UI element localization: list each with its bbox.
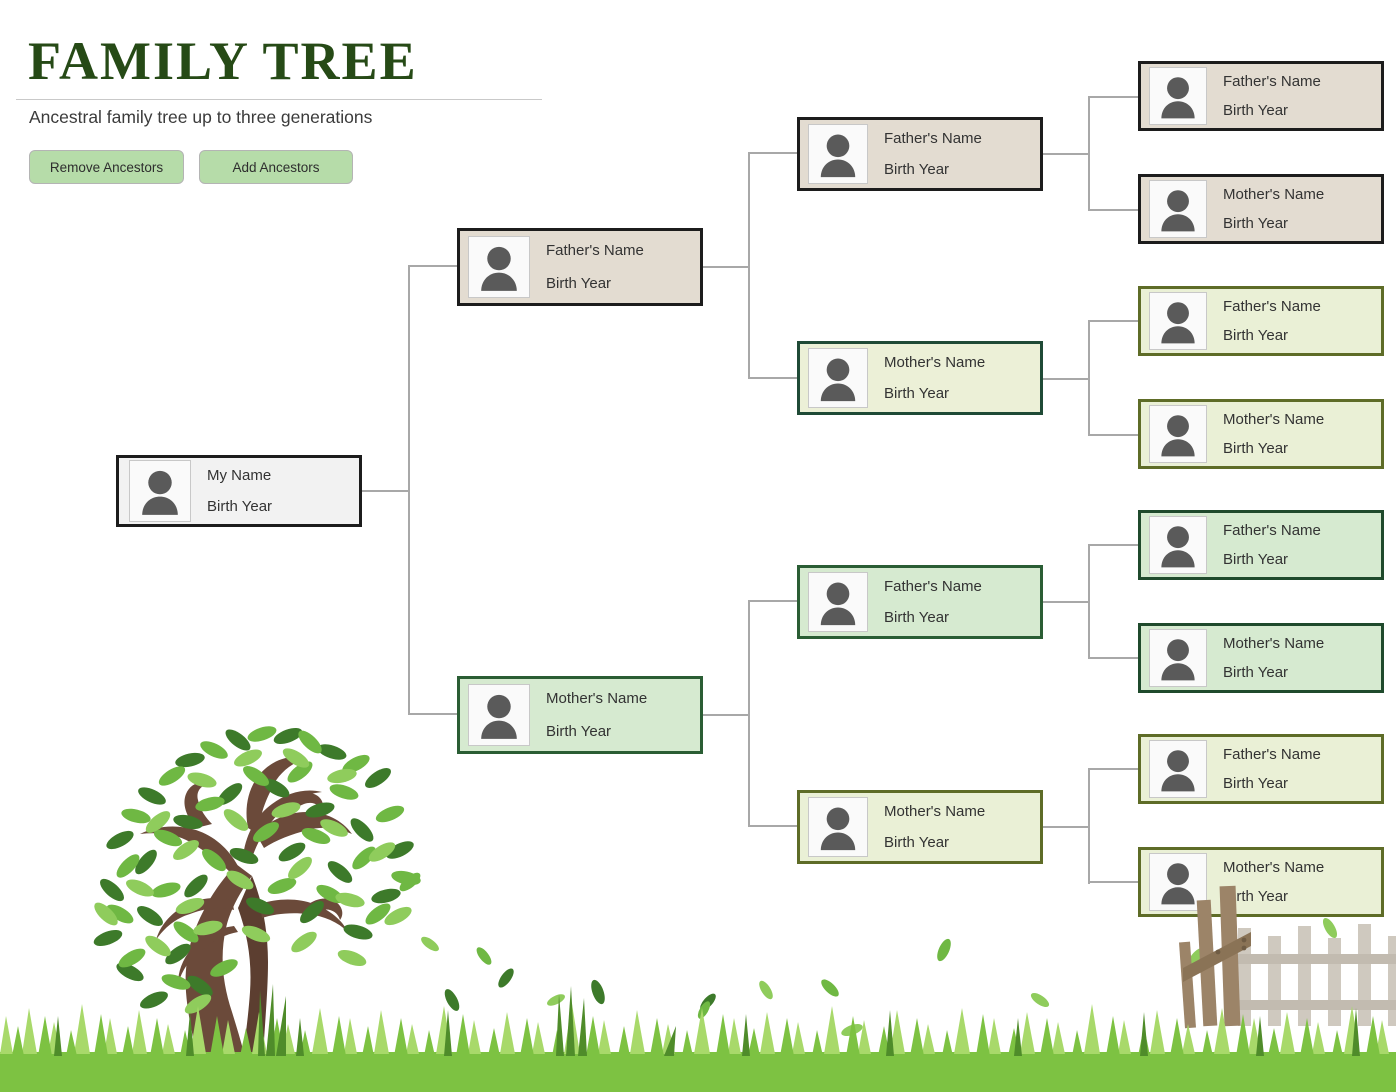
connector-to-g3-8 [1088,881,1140,883]
connector-g2-4-up [1088,769,1090,827]
connector-root-down [408,490,410,714]
connector-to-g2-4 [748,825,798,827]
person-name: Father's Name [1223,522,1321,539]
connector-g2-4-stem [1042,826,1088,828]
page-title: FAMILY TREE [28,34,418,88]
person-birth-year: Birth Year [1223,888,1324,905]
connector-g1f-down [748,266,750,378]
person-name: Mother's Name [1223,186,1324,203]
remove-ancestors-button[interactable]: Remove Ancestors [29,150,184,184]
page-subtitle: Ancestral family tree up to three genera… [29,107,372,128]
person-card-paternal-grandfather[interactable]: Father's Name Birth Year [797,117,1043,191]
person-info: Father's Name Birth Year [546,242,644,292]
person-birth-year: Birth Year [546,275,644,292]
person-name: Father's Name [1223,73,1321,90]
person-name: Father's Name [884,578,982,595]
person-avatar-icon [808,797,868,857]
person-info: Father's Name Birth Year [884,578,982,626]
person-birth-year: Birth Year [1223,215,1324,232]
connector-g2-1-up [1088,97,1090,154]
person-birth-year: Birth Year [884,385,985,402]
person-info: Mother's Name Birth Year [1223,411,1324,457]
person-name: Mother's Name [546,690,647,707]
person-avatar-icon [468,684,530,746]
connector-to-g2-1 [748,152,798,154]
person-info: Mother's Name Birth Year [1223,859,1324,905]
person-avatar-icon [129,460,191,522]
connector-root-up [408,266,410,492]
connector-g1m-up [748,601,750,715]
connector-to-g3-5 [1088,544,1140,546]
person-card-great-grandmother-1[interactable]: Mother's Name Birth Year [1138,174,1384,244]
person-info: Father's Name Birth Year [1223,73,1321,119]
family-tree-canvas: FAMILY TREE Ancestral family tree up to … [0,0,1396,1092]
connector-to-g3-7 [1088,768,1140,770]
person-card-great-grandmother-2[interactable]: Mother's Name Birth Year [1138,399,1384,469]
person-card-self[interactable]: My Name Birth Year [116,455,362,527]
connector-to-mother-g1 [408,713,458,715]
person-card-great-grandfather-4[interactable]: Father's Name Birth Year [1138,734,1384,804]
person-info: Mother's Name Birth Year [546,690,647,740]
connector-g2-1-stem [1042,153,1088,155]
person-avatar-icon [1149,853,1207,911]
person-avatar-icon [1149,629,1207,687]
person-name: Mother's Name [884,803,985,820]
person-info: Father's Name Birth Year [1223,298,1321,344]
connector-g2-3-stem [1042,601,1088,603]
connector-g1m-stem [702,714,750,716]
person-birth-year: Birth Year [546,723,647,740]
connector-g2-2-up [1088,321,1090,379]
person-info: Mother's Name Birth Year [884,354,985,402]
tree-illustration [91,723,422,1092]
connector-to-g3-1 [1088,96,1140,98]
connector-g2-2-stem [1042,378,1088,380]
person-card-mother[interactable]: Mother's Name Birth Year [457,676,703,754]
person-birth-year: Birth Year [1223,327,1321,344]
connector-to-g3-6 [1088,657,1140,659]
connector-g2-2-down [1088,378,1090,436]
person-avatar-icon [1149,292,1207,350]
person-name: Mother's Name [1223,635,1324,652]
person-birth-year: Birth Year [884,609,982,626]
person-avatar-icon [468,236,530,298]
person-avatar-icon [808,572,868,632]
person-card-great-grandfather-2[interactable]: Father's Name Birth Year [1138,286,1384,356]
person-avatar-icon [1149,740,1207,798]
connector-g1f-stem [702,266,750,268]
person-card-father[interactable]: Father's Name Birth Year [457,228,703,306]
person-name: Mother's Name [884,354,985,371]
connector-to-father-g1 [408,265,458,267]
person-name: Father's Name [884,130,982,147]
connector-g1m-down [748,714,750,826]
person-info: Father's Name Birth Year [1223,522,1321,568]
person-name: Father's Name [1223,298,1321,315]
connector-g2-3-down [1088,601,1090,658]
connector-to-g2-2 [748,377,798,379]
person-avatar-icon [808,348,868,408]
person-birth-year: Birth Year [1223,775,1321,792]
add-ancestors-button[interactable]: Add Ancestors [199,150,353,184]
person-card-great-grandfather-1[interactable]: Father's Name Birth Year [1138,61,1384,131]
connector-g1f-up [748,153,750,267]
connector-g2-4-down [1088,826,1090,884]
person-birth-year: Birth Year [1223,102,1321,119]
person-name: Mother's Name [1223,411,1324,428]
person-info: Mother's Name Birth Year [1223,635,1324,681]
person-birth-year: Birth Year [1223,664,1324,681]
person-info: Father's Name Birth Year [1223,746,1321,792]
person-name: Father's Name [546,242,644,259]
person-birth-year: Birth Year [884,161,982,178]
person-name: Father's Name [1223,746,1321,763]
person-card-maternal-grandmother[interactable]: Mother's Name Birth Year [797,790,1043,864]
person-avatar-icon [1149,405,1207,463]
person-info: Mother's Name Birth Year [884,803,985,851]
person-avatar-icon [808,124,868,184]
person-card-great-grandmother-4[interactable]: Mother's Name Birth Year [1138,847,1384,917]
person-birth-year: Birth Year [1223,440,1324,457]
person-avatar-icon [1149,516,1207,574]
person-birth-year: Birth Year [207,498,272,515]
person-info: Father's Name Birth Year [884,130,982,178]
person-name: My Name [207,467,272,484]
connector-to-g3-2 [1088,209,1140,211]
connector-to-g3-3 [1088,320,1140,322]
person-card-maternal-grandfather[interactable]: Father's Name Birth Year [797,565,1043,639]
person-info: My Name Birth Year [207,467,272,515]
person-birth-year: Birth Year [884,834,985,851]
person-card-paternal-grandmother[interactable]: Mother's Name Birth Year [797,341,1043,415]
connector-to-g2-3 [748,600,798,602]
title-divider [16,99,542,100]
connector-root-stem [362,490,410,492]
person-name: Mother's Name [1223,859,1324,876]
person-avatar-icon [1149,67,1207,125]
person-avatar-icon [1149,180,1207,238]
connector-to-g3-4 [1088,434,1140,436]
connector-g2-1-down [1088,153,1090,210]
grass-illustration [0,984,1396,1092]
person-card-great-grandmother-3[interactable]: Mother's Name Birth Year [1138,623,1384,693]
connector-g2-3-up [1088,545,1090,602]
person-info: Mother's Name Birth Year [1223,186,1324,232]
person-birth-year: Birth Year [1223,551,1321,568]
person-card-great-grandfather-3[interactable]: Father's Name Birth Year [1138,510,1384,580]
